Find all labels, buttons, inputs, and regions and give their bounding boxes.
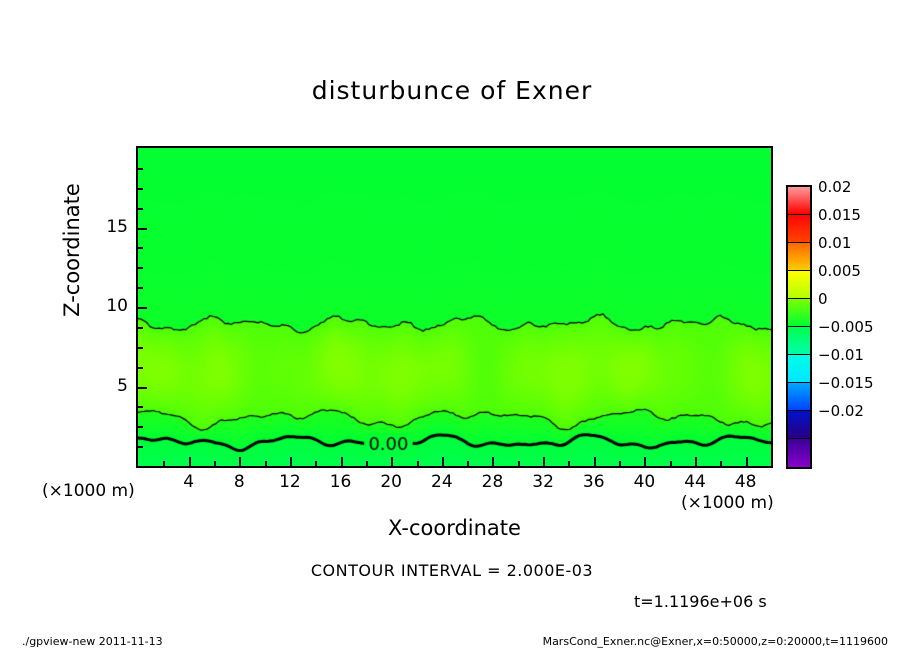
x-tick-major xyxy=(442,457,444,466)
colorbar-band xyxy=(788,187,810,215)
colorbar-tick-label: 0.02 xyxy=(818,178,851,196)
y-tick-minor xyxy=(138,188,143,190)
x-tick-label: 48 xyxy=(716,472,776,492)
y-tick-minor xyxy=(138,426,143,428)
y-axis-unit-label: (×1000 m) xyxy=(42,481,135,501)
x-axis-label: X-coordinate xyxy=(136,516,773,540)
plot-area xyxy=(136,146,773,468)
x-tick-minor xyxy=(467,461,469,466)
footer-command: ./gpview-new 2011-11-13 xyxy=(22,635,163,648)
contour-field-canvas xyxy=(138,148,771,466)
x-tick-minor xyxy=(265,461,267,466)
x-tick-major xyxy=(594,457,596,466)
x-tick-major xyxy=(391,457,393,466)
colorbar-tick-label: 0.015 xyxy=(818,206,861,224)
y-tick-major xyxy=(138,228,147,230)
y-tick-label: 5 xyxy=(86,376,128,396)
page-title: disturbunce of Exner xyxy=(0,76,904,105)
colorbar-tick-label: −0.005 xyxy=(818,318,874,336)
y-tick-minor xyxy=(138,406,143,408)
y-axis-label: Z-coordinate xyxy=(60,140,84,360)
contour-interval-note: CONTOUR INTERVAL = 2.000E-03 xyxy=(0,561,904,580)
time-stamp-note: t=1.1196e+06 s xyxy=(634,592,767,611)
x-tick-minor xyxy=(214,461,216,466)
y-tick-minor xyxy=(138,327,143,329)
x-tick-major xyxy=(644,457,646,466)
colorbar-band xyxy=(788,327,810,355)
x-tick-major xyxy=(341,457,343,466)
x-axis-unit-label: (×1000 m) xyxy=(681,493,774,513)
y-tick-label: 15 xyxy=(86,217,128,237)
y-tick-minor xyxy=(138,168,143,170)
y-tick-major xyxy=(138,307,147,309)
x-tick-minor xyxy=(366,461,368,466)
x-tick-major xyxy=(695,457,697,466)
x-tick-minor xyxy=(163,461,165,466)
colorbar-band xyxy=(788,355,810,383)
y-tick-minor xyxy=(138,267,143,269)
x-tick-minor xyxy=(771,461,773,466)
colorbar-band xyxy=(788,439,810,467)
colorbar-band xyxy=(788,299,810,327)
y-tick-label: 10 xyxy=(86,296,128,316)
y-tick-minor xyxy=(138,347,143,349)
y-tick-minor xyxy=(138,287,143,289)
x-tick-minor xyxy=(568,461,570,466)
x-tick-minor xyxy=(720,461,722,466)
x-tick-major xyxy=(239,457,241,466)
footer-source: MarsCond_Exner.nc@Exner,x=0:50000,z=0:20… xyxy=(543,635,888,648)
colorbar-tick-label: 0 xyxy=(818,290,828,308)
colorbar-tick-label: −0.01 xyxy=(818,346,864,364)
y-tick-minor xyxy=(138,208,143,210)
x-tick-minor xyxy=(619,461,621,466)
colorbar-band xyxy=(788,383,810,411)
y-tick-minor xyxy=(138,367,143,369)
colorbar-tick-label: 0.005 xyxy=(818,262,861,280)
x-tick-minor xyxy=(315,461,317,466)
colorbar-tick-label: −0.02 xyxy=(818,402,864,420)
x-tick-major xyxy=(746,457,748,466)
colorbar-band xyxy=(788,215,810,243)
colorbar-band xyxy=(788,243,810,271)
colorbar-band xyxy=(788,411,810,439)
y-tick-minor xyxy=(138,446,143,448)
colorbar xyxy=(786,185,812,469)
x-tick-major xyxy=(543,457,545,466)
colorbar-tick-label: 0.01 xyxy=(818,234,851,252)
x-tick-minor xyxy=(518,461,520,466)
y-tick-major xyxy=(138,387,147,389)
x-tick-major xyxy=(189,457,191,466)
x-tick-major xyxy=(492,457,494,466)
y-tick-minor xyxy=(138,247,143,249)
x-tick-minor xyxy=(417,461,419,466)
x-tick-major xyxy=(290,457,292,466)
colorbar-band xyxy=(788,271,810,299)
colorbar-tick-label: −0.015 xyxy=(818,374,874,392)
x-tick-minor xyxy=(670,461,672,466)
